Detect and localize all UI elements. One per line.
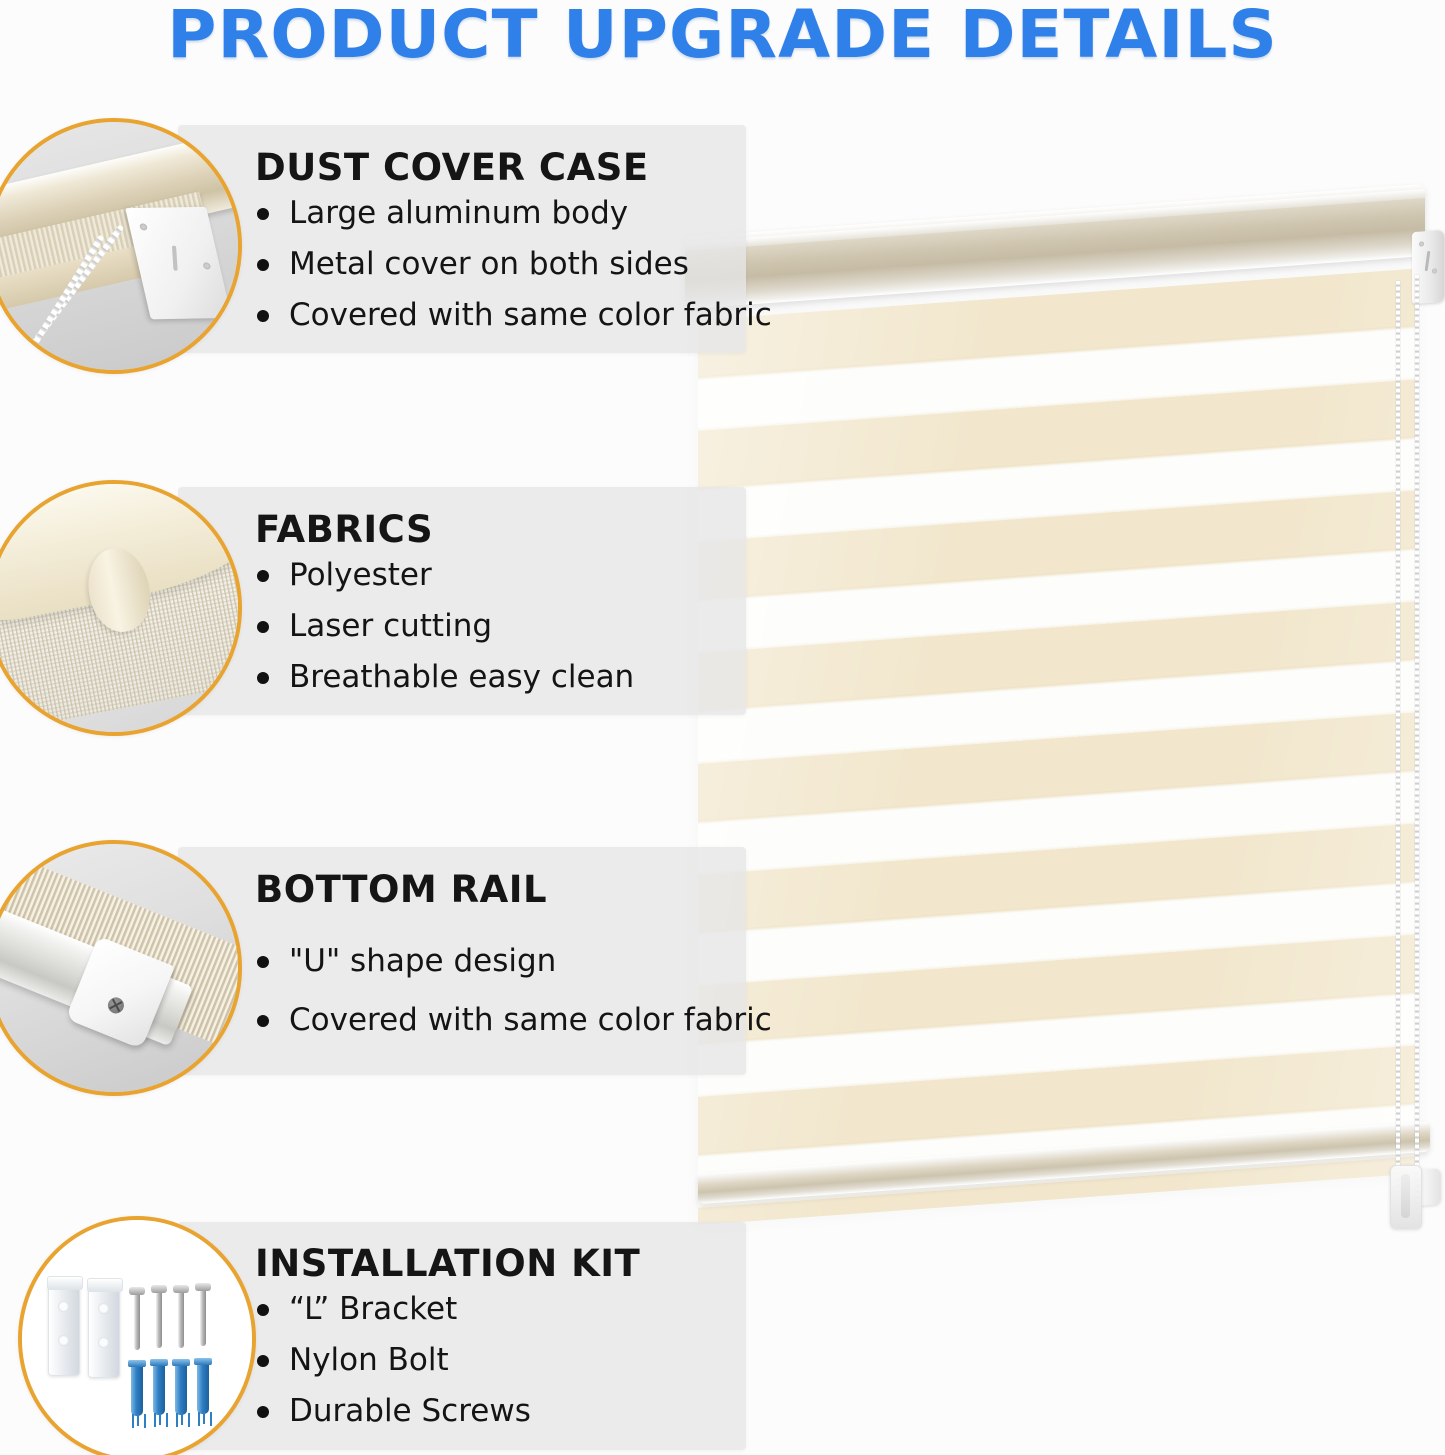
bracket-lip: [87, 1278, 123, 1292]
nylon-bolt-icon: [153, 1363, 165, 1415]
bullet-dot-icon: [257, 208, 269, 220]
anchor-legs: [154, 1413, 168, 1427]
l-bracket-icon: [48, 1282, 80, 1376]
feature-heading: INSTALLATION KIT: [255, 1242, 640, 1285]
screw-icon: [106, 995, 127, 1016]
product-image-zebra-blind: [690, 225, 1445, 1235]
bullet-dot-icon: [257, 310, 269, 322]
screw-icon: [138, 224, 147, 231]
chain-slot-icon: [1425, 251, 1431, 271]
screw-icon: [1419, 241, 1424, 246]
bullet-text: Breathable easy clean: [289, 659, 634, 695]
blind-fabric: [698, 269, 1416, 1225]
bullet-text: Durable Screws: [289, 1393, 531, 1429]
feature-photo-bottom-rail: [0, 840, 242, 1096]
bracket-hook-icon: [172, 245, 178, 271]
bullet-dot-icon: [257, 621, 269, 633]
screw-icon: [134, 1292, 140, 1350]
zebra-fabric-photo: [0, 484, 238, 732]
bullet-dot-icon: [257, 672, 269, 684]
anchor-legs: [132, 1414, 146, 1428]
bullet-text: “L” Bracket: [289, 1291, 457, 1327]
hardware-group: [22, 1220, 252, 1455]
screw-head: [195, 1283, 211, 1291]
feature-photo-installation-kit: [18, 1216, 256, 1455]
bullet-text: "U" shape design: [289, 943, 556, 979]
nylon-bolt-icon: [175, 1363, 187, 1415]
cassette-end-cap: [125, 207, 232, 320]
screw-icon: [156, 1290, 162, 1348]
bullet-item: Metal cover on both sides: [255, 246, 772, 283]
bullet-dot-icon: [257, 1015, 269, 1027]
bullet-item: "U" shape design: [255, 943, 772, 980]
bullet-dot-icon: [257, 259, 269, 271]
screw-head: [173, 1285, 189, 1293]
feature-heading: BOTTOM RAIL: [255, 868, 772, 911]
bullet-text: Polyester: [289, 557, 432, 593]
page-title: PRODUCT UPGRADE DETAILS: [0, 0, 1445, 73]
screw-icon: [200, 1288, 206, 1346]
bottom-rail-endcap-photo: [0, 844, 238, 1092]
bracket-lip: [47, 1276, 83, 1290]
bullet-dot-icon: [257, 1304, 269, 1316]
bullet-dot-icon: [257, 1406, 269, 1418]
screw-head: [129, 1287, 145, 1295]
bullet-item: Covered with same color fabric: [255, 297, 772, 334]
bullet-item: Durable Screws: [255, 1393, 640, 1430]
feature-photo-dust-cover-case: [0, 118, 242, 374]
feature-bullet-list: Large aluminum body Metal cover on both …: [255, 195, 772, 335]
bullet-item: Covered with same color fabric: [255, 1002, 772, 1039]
feature-photo-fabrics: [0, 480, 242, 736]
screw-icon: [1432, 268, 1437, 273]
feature-bullet-list: “L” Bracket Nylon Bolt Durable Screws: [255, 1291, 640, 1431]
anchor-collar: [128, 1360, 146, 1367]
nylon-bolt-icon: [197, 1362, 209, 1414]
blind-assembly: [690, 225, 1430, 1215]
bullet-text: Covered with same color fabric: [289, 1002, 772, 1038]
l-bracket-icon: [88, 1284, 120, 1378]
feature-heading: DUST COVER CASE: [255, 146, 772, 189]
anchor-collar: [194, 1358, 212, 1365]
bullet-text: Metal cover on both sides: [289, 246, 689, 282]
bullet-item: Laser cutting: [255, 608, 634, 645]
headrail-cassette-photo: [0, 122, 238, 370]
anchor-collar: [172, 1359, 190, 1366]
bullet-item: “L” Bracket: [255, 1291, 640, 1328]
bullet-text: Laser cutting: [289, 608, 492, 644]
bullet-item: Polyester: [255, 557, 634, 594]
bullet-item: Nylon Bolt: [255, 1342, 640, 1379]
bead-chain-left-strand: [1396, 281, 1400, 1191]
bullet-item: Large aluminum body: [255, 195, 772, 232]
bullet-item: Breathable easy clean: [255, 659, 634, 696]
feature-bullet-list: "U" shape design Covered with same color…: [255, 943, 772, 1039]
chain-tension-device: [1390, 1165, 1422, 1229]
bullet-text: Covered with same color fabric: [289, 297, 772, 333]
screw-icon: [178, 1290, 184, 1348]
anchor-legs: [176, 1413, 190, 1427]
bullet-dot-icon: [257, 956, 269, 968]
bead-chain-right-strand: [1415, 275, 1419, 1210]
bullet-dot-icon: [257, 570, 269, 582]
screw-icon: [202, 263, 211, 270]
installation-hardware-photo: [22, 1220, 252, 1455]
nylon-bolt-icon: [131, 1364, 143, 1416]
feature-bullet-list: Polyester Laser cutting Breathable easy …: [255, 557, 634, 697]
anchor-legs: [198, 1412, 212, 1426]
feature-heading: FABRICS: [255, 508, 634, 551]
infographic-canvas: PRODUCT UPGRADE DETAILS DUST COVER CASE …: [0, 0, 1445, 1455]
anchor-collar: [150, 1359, 168, 1366]
bullet-dot-icon: [257, 1355, 269, 1367]
bullet-text: Large aluminum body: [289, 195, 628, 231]
screw-head: [151, 1285, 167, 1293]
bullet-text: Nylon Bolt: [289, 1342, 449, 1378]
